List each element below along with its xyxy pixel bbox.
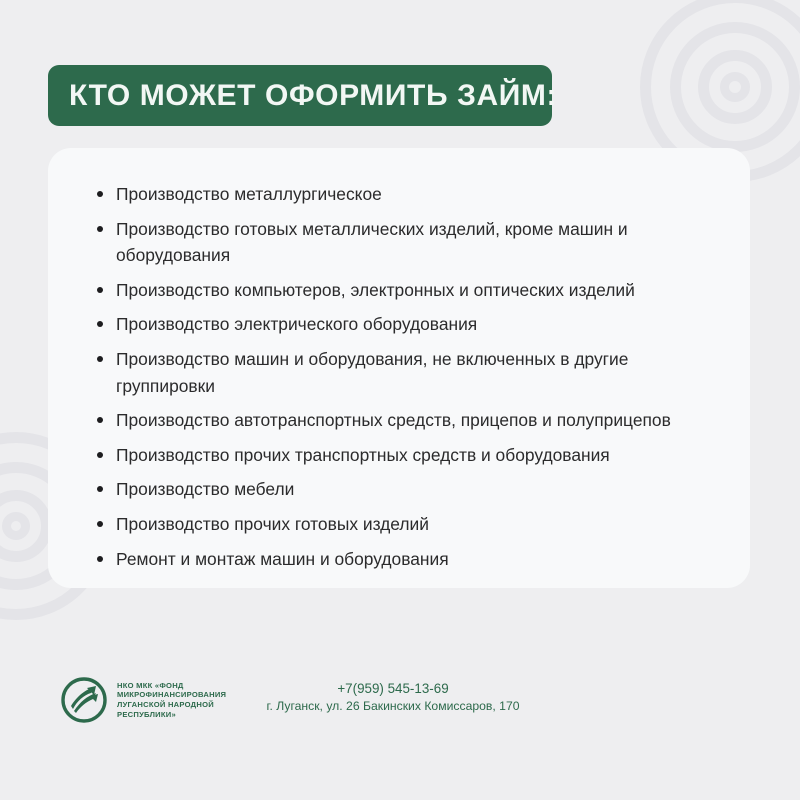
phone-number[interactable]: +7(959) 545-13-69 xyxy=(258,680,528,698)
list-item: Производство готовых металлических издел… xyxy=(94,216,724,269)
list-item: Производство автотранспортных средств, п… xyxy=(94,407,724,434)
list-item: Производство прочих готовых изделий xyxy=(94,511,724,538)
list-item: Производство компьютеров, электронных и … xyxy=(94,277,724,304)
list-item: Производство прочих транспортных средств… xyxy=(94,442,724,469)
contact-block: +7(959) 545-13-69 г. Луганск, ул. 26 Бак… xyxy=(258,680,528,715)
header-banner: КТО МОЖЕТ ОФОРМИТЬ ЗАЙМ: xyxy=(48,65,552,126)
office-address: г. Луганск, ул. 26 Бакинских Комиссаров,… xyxy=(258,698,528,715)
poster-page: КТО МОЖЕТ ОФОРМИТЬ ЗАЙМ: Производство ме… xyxy=(0,0,800,800)
list-item: Производство металлургическое xyxy=(94,181,724,208)
page-title: КТО МОЖЕТ ОФОРМИТЬ ЗАЙМ: xyxy=(48,79,557,113)
brand-block: НКО МКК «ФОНД МИКРОФИНАНСИРОВАНИЯ ЛУГАНС… xyxy=(60,676,226,724)
brand-name: НКО МКК «ФОНД МИКРОФИНАНСИРОВАНИЯ ЛУГАНС… xyxy=(117,681,226,719)
list-item: Производство мебели xyxy=(94,476,724,503)
fund-leaf-emblem-icon xyxy=(60,676,108,724)
content-card: Производство металлургическое Производст… xyxy=(48,148,750,588)
list-item: Производство машин и оборудования, не вк… xyxy=(94,346,724,399)
footer: НКО МКК «ФОНД МИКРОФИНАНСИРОВАНИЯ ЛУГАНС… xyxy=(0,660,800,750)
list-item: Ремонт и монтаж машин и оборудования xyxy=(94,546,724,573)
list-item: Производство электрического оборудования xyxy=(94,311,724,338)
eligibility-list: Производство металлургическое Производст… xyxy=(94,181,724,580)
